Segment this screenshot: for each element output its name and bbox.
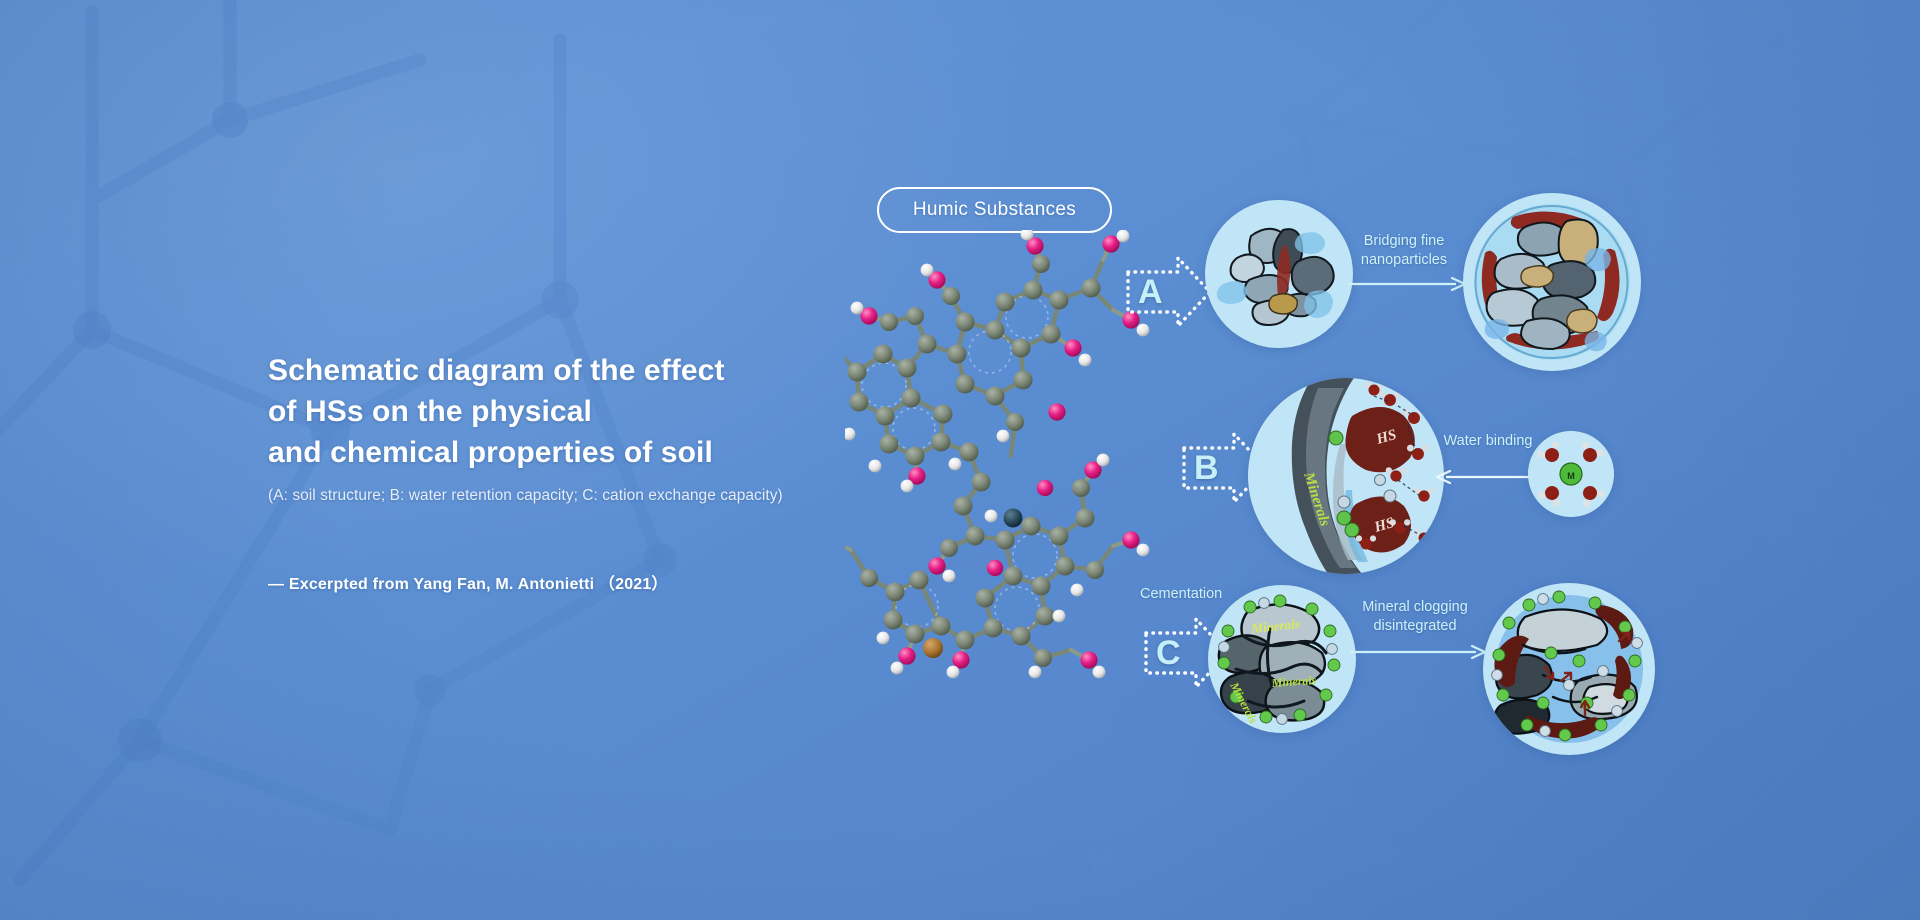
connector-arrow-b xyxy=(1436,470,1532,484)
marker-letter-c: C xyxy=(1156,636,1181,670)
connector-arrow-c xyxy=(1350,645,1486,659)
title-line-3: and chemical properties of soil xyxy=(268,432,888,473)
connector-label-mineral-clogging: Mineral clogging disintegrated xyxy=(1345,598,1485,636)
marker-arrow-a: A xyxy=(1122,252,1214,332)
circle-cation-exchange-open xyxy=(1483,583,1655,755)
marker-letter-b: B xyxy=(1194,451,1219,485)
connector-label-water-binding: Water binding xyxy=(1436,432,1540,451)
circle-hs-mineral-water: HS HS Minerals xyxy=(1248,378,1444,574)
headline-block: Schematic diagram of the effect of HSs o… xyxy=(268,350,888,507)
attribution-text: — Excerpted from Yang Fan, M. Antonietti… xyxy=(268,570,668,594)
page-title: Schematic diagram of the effect of HSs o… xyxy=(268,350,888,473)
circle-soil-particles-loose xyxy=(1205,200,1353,348)
title-line-1: Schematic diagram of the effect xyxy=(268,350,888,391)
circle-soil-aggregate-bound xyxy=(1463,193,1641,371)
connector-label-bridging: Bridging fine nanoparticles xyxy=(1344,232,1464,270)
connector-arrow-a xyxy=(1348,277,1466,291)
title-subtitle: (A: soil structure; B: water retention c… xyxy=(268,485,888,507)
cation-symbol: M xyxy=(1567,471,1575,481)
circle-mineral-cementation: Minerals Minerals Minerals xyxy=(1208,585,1356,733)
humic-substances-label-text: Humic Substances xyxy=(913,199,1076,221)
humic-substances-label: Humic Substances xyxy=(877,187,1112,233)
humic-substance-molecule-model xyxy=(845,230,1165,750)
marker-letter-a: A xyxy=(1138,275,1163,309)
title-line-2: of HSs on the physical xyxy=(268,391,888,432)
poster-canvas: Schematic diagram of the effect of HSs o… xyxy=(0,0,1920,920)
circle-hydrated-cation: M xyxy=(1528,431,1614,517)
